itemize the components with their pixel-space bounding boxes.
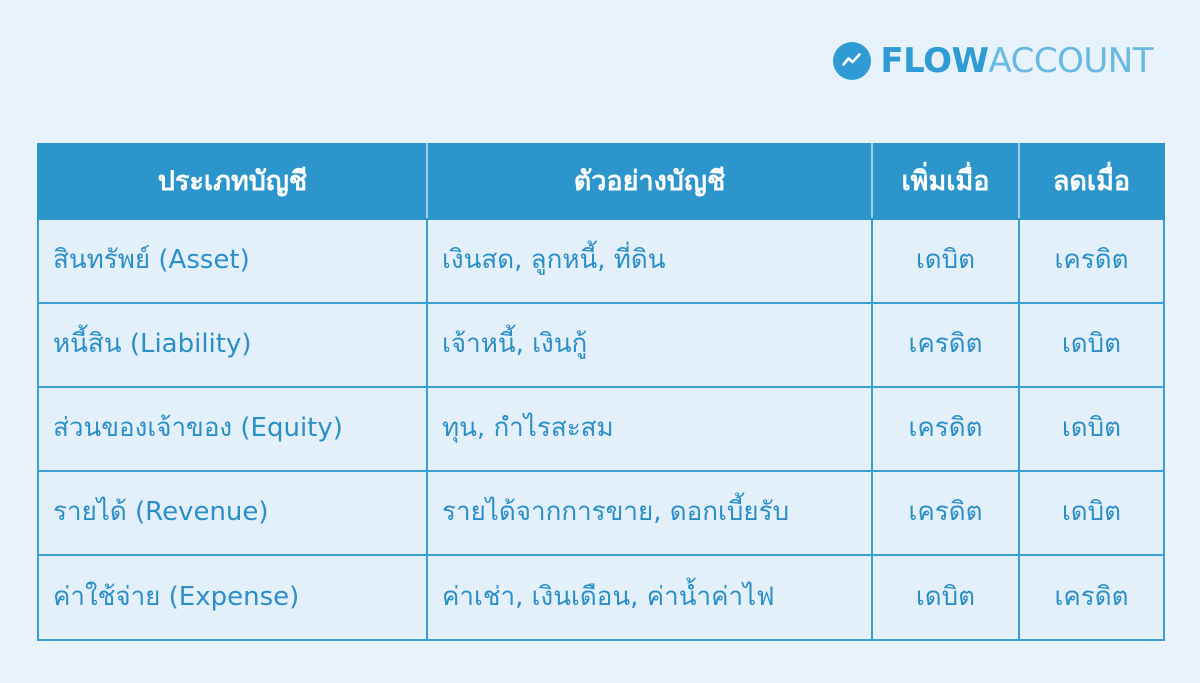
cell-increase-when: เครดิต xyxy=(872,303,1019,387)
table-header: ประเภทบัญชี ตัวอย่างบัญชี เพิ่มเมื่อ ลดเ… xyxy=(38,144,1164,219)
table-row: รายได้ (Revenue) รายได้จากการขาย, ดอกเบี… xyxy=(38,471,1164,555)
cell-account-type: หนี้สิน (Liability) xyxy=(38,303,427,387)
account-types-table-container: ประเภทบัญชี ตัวอย่างบัญชี เพิ่มเมื่อ ลดเ… xyxy=(37,143,1163,641)
brand-wordmark: FLOWACCOUNT xyxy=(880,44,1153,78)
account-types-table: ประเภทบัญชี ตัวอย่างบัญชี เพิ่มเมื่อ ลดเ… xyxy=(37,143,1165,641)
column-header-increase-when: เพิ่มเมื่อ xyxy=(872,144,1019,219)
cell-decrease-when: เดบิต xyxy=(1019,387,1164,471)
cell-decrease-when: เดบิต xyxy=(1019,303,1164,387)
cell-account-type: ส่วนของเจ้าของ (Equity) xyxy=(38,387,427,471)
cell-increase-when: เดบิต xyxy=(872,219,1019,303)
column-header-account-examples: ตัวอย่างบัญชี xyxy=(427,144,872,219)
table-row: หนี้สิน (Liability) เจ้าหนี้, เงินกู้ เค… xyxy=(38,303,1164,387)
cell-increase-when: เครดิต xyxy=(872,387,1019,471)
cell-increase-when: เดบิต xyxy=(872,555,1019,640)
cell-account-examples: เจ้าหนี้, เงินกู้ xyxy=(427,303,872,387)
cell-decrease-when: เดบิต xyxy=(1019,471,1164,555)
cell-decrease-when: เครดิต xyxy=(1019,555,1164,640)
cell-account-type: สินทรัพย์ (Asset) xyxy=(38,219,427,303)
cell-account-examples: ค่าเช่า, เงินเดือน, ค่าน้ำค่าไฟ xyxy=(427,555,872,640)
cell-decrease-when: เครดิต xyxy=(1019,219,1164,303)
cell-account-type: ค่าใช้จ่าย (Expense) xyxy=(38,555,427,640)
table-header-row: ประเภทบัญชี ตัวอย่างบัญชี เพิ่มเมื่อ ลดเ… xyxy=(38,144,1164,219)
table-row: ส่วนของเจ้าของ (Equity) ทุน, กำไรสะสม เค… xyxy=(38,387,1164,471)
brand-word-flow: FLOW xyxy=(880,44,988,78)
column-header-decrease-when: ลดเมื่อ xyxy=(1019,144,1164,219)
cell-account-examples: ทุน, กำไรสะสม xyxy=(427,387,872,471)
brand-logo: FLOWACCOUNT xyxy=(833,39,1153,83)
table-row: สินทรัพย์ (Asset) เงินสด, ลูกหนี้, ที่ดิ… xyxy=(38,219,1164,303)
cell-increase-when: เครดิต xyxy=(872,471,1019,555)
flowaccount-logo-icon xyxy=(833,42,871,80)
cell-account-examples: รายได้จากการขาย, ดอกเบี้ยรับ xyxy=(427,471,872,555)
brand-word-account: ACCOUNT xyxy=(989,44,1154,78)
cell-account-type: รายได้ (Revenue) xyxy=(38,471,427,555)
table-row: ค่าใช้จ่าย (Expense) ค่าเช่า, เงินเดือน,… xyxy=(38,555,1164,640)
table-body: สินทรัพย์ (Asset) เงินสด, ลูกหนี้, ที่ดิ… xyxy=(38,219,1164,640)
cell-account-examples: เงินสด, ลูกหนี้, ที่ดิน xyxy=(427,219,872,303)
column-header-account-type: ประเภทบัญชี xyxy=(38,144,427,219)
